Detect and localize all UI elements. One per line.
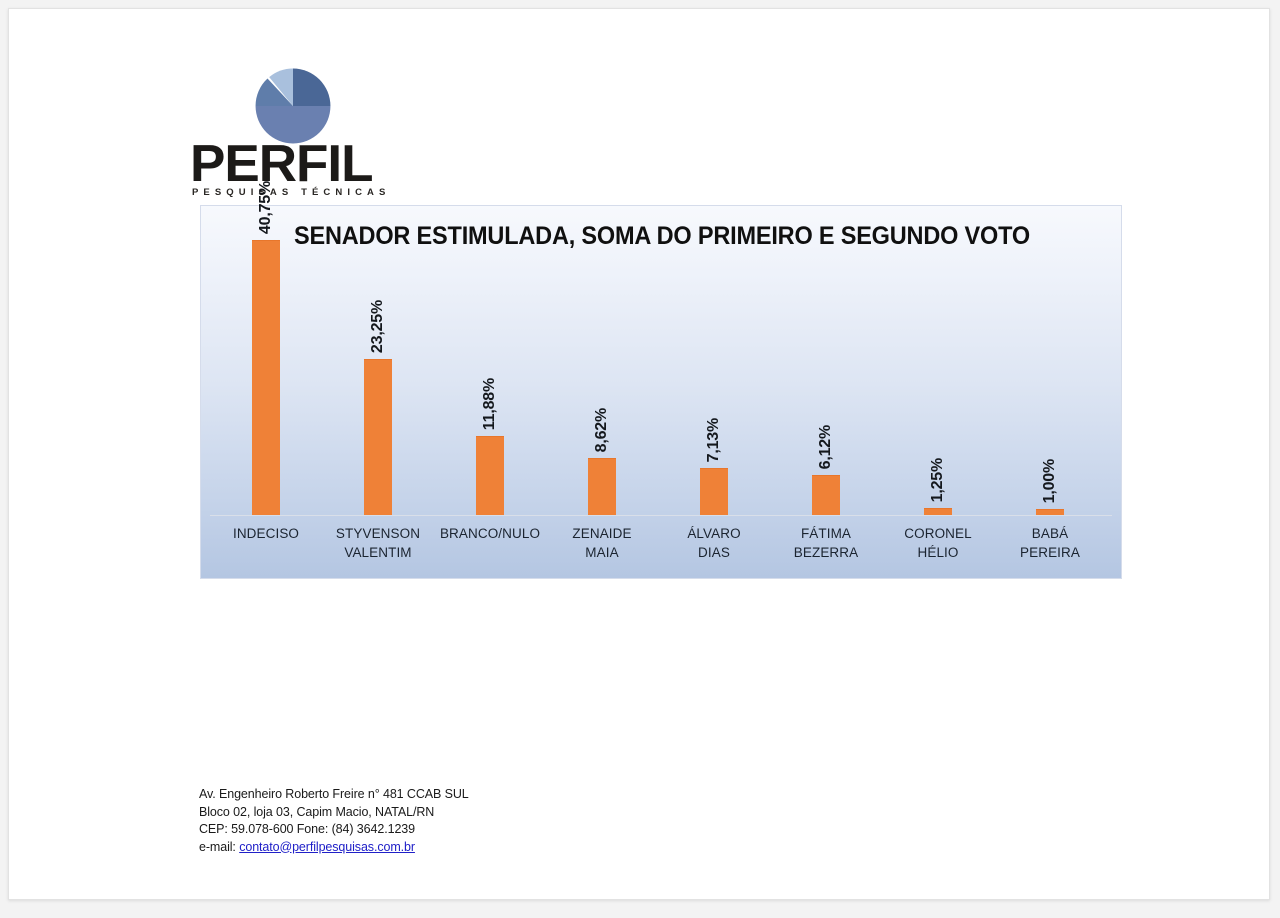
bar-slot: 23,25% bbox=[322, 218, 434, 516]
bar[interactable] bbox=[700, 468, 728, 516]
x-axis-category-label: INDECISO bbox=[210, 524, 322, 543]
bar[interactable] bbox=[588, 458, 616, 516]
chart-container: SENADOR ESTIMULADA, SOMA DO PRIMEIRO E S… bbox=[200, 205, 1122, 579]
pie-chart-icon bbox=[254, 67, 332, 145]
bar-value-label: 40,75% bbox=[257, 181, 275, 234]
logo-tagline: PESQUISAS TÉCNICAS bbox=[192, 187, 390, 198]
bar-slot: 11,88% bbox=[434, 218, 546, 516]
x-axis-category-label: BRANCO/NULO bbox=[434, 524, 546, 543]
x-axis-category-label: CORONELHÉLIO bbox=[882, 524, 994, 562]
chart-plot-area: 40,75%23,25%11,88%8,62%7,13%6,12%1,25%1,… bbox=[210, 218, 1114, 516]
x-axis-category-label: ZENAIDEMAIA bbox=[546, 524, 658, 562]
contact-footer: Av. Engenheiro Roberto Freire n° 481 CCA… bbox=[199, 786, 469, 856]
bar-slot: 6,12% bbox=[770, 218, 882, 516]
bar[interactable] bbox=[476, 436, 504, 516]
x-axis-line bbox=[210, 515, 1112, 516]
bar[interactable] bbox=[812, 475, 840, 516]
bar-slot: 7,13% bbox=[658, 218, 770, 516]
x-axis-category-label: FÁTIMABEZERRA bbox=[770, 524, 882, 562]
bar-value-label: 11,88% bbox=[481, 378, 499, 430]
x-axis-category-label: STYVENSONVALENTIM bbox=[322, 524, 434, 562]
bar-value-label: 7,13% bbox=[705, 418, 723, 462]
footer-address-line-1: Av. Engenheiro Roberto Freire n° 481 CCA… bbox=[199, 786, 469, 804]
bar-value-label: 1,25% bbox=[929, 458, 947, 502]
footer-email-prefix: e-mail: bbox=[199, 840, 239, 854]
bar-value-label: 6,12% bbox=[817, 425, 835, 469]
company-logo: PERFIL PESQUISAS TÉCNICAS bbox=[184, 57, 399, 202]
x-axis-category-label: BABÁPEREIRA bbox=[994, 524, 1106, 562]
x-axis-category-labels: INDECISOSTYVENSONVALENTIMBRANCO/NULOZENA… bbox=[210, 520, 1114, 576]
bar-slot: 1,00% bbox=[994, 218, 1106, 516]
bar-value-label: 23,25% bbox=[369, 300, 387, 353]
bar[interactable] bbox=[364, 359, 392, 516]
bar-slot: 1,25% bbox=[882, 218, 994, 516]
document-page: PERFIL PESQUISAS TÉCNICAS SENADOR ESTIMU… bbox=[8, 8, 1270, 900]
logo-wordmark: PERFIL bbox=[190, 143, 399, 185]
footer-address-line-2: Bloco 02, loja 03, Capim Macio, NATAL/RN bbox=[199, 804, 469, 822]
x-axis-category-label: ÁLVARODIAS bbox=[658, 524, 770, 562]
email-link[interactable]: contato@perfilpesquisas.com.br bbox=[239, 840, 415, 854]
footer-email-line: e-mail: contato@perfilpesquisas.com.br bbox=[199, 839, 469, 857]
bar-slot: 40,75% bbox=[210, 218, 322, 516]
bar[interactable] bbox=[252, 240, 280, 516]
bar-value-label: 8,62% bbox=[593, 408, 611, 452]
bar-slot: 8,62% bbox=[546, 218, 658, 516]
footer-address-line-3: CEP: 59.078-600 Fone: (84) 3642.1239 bbox=[199, 821, 469, 839]
bar-value-label: 1,00% bbox=[1041, 459, 1059, 503]
